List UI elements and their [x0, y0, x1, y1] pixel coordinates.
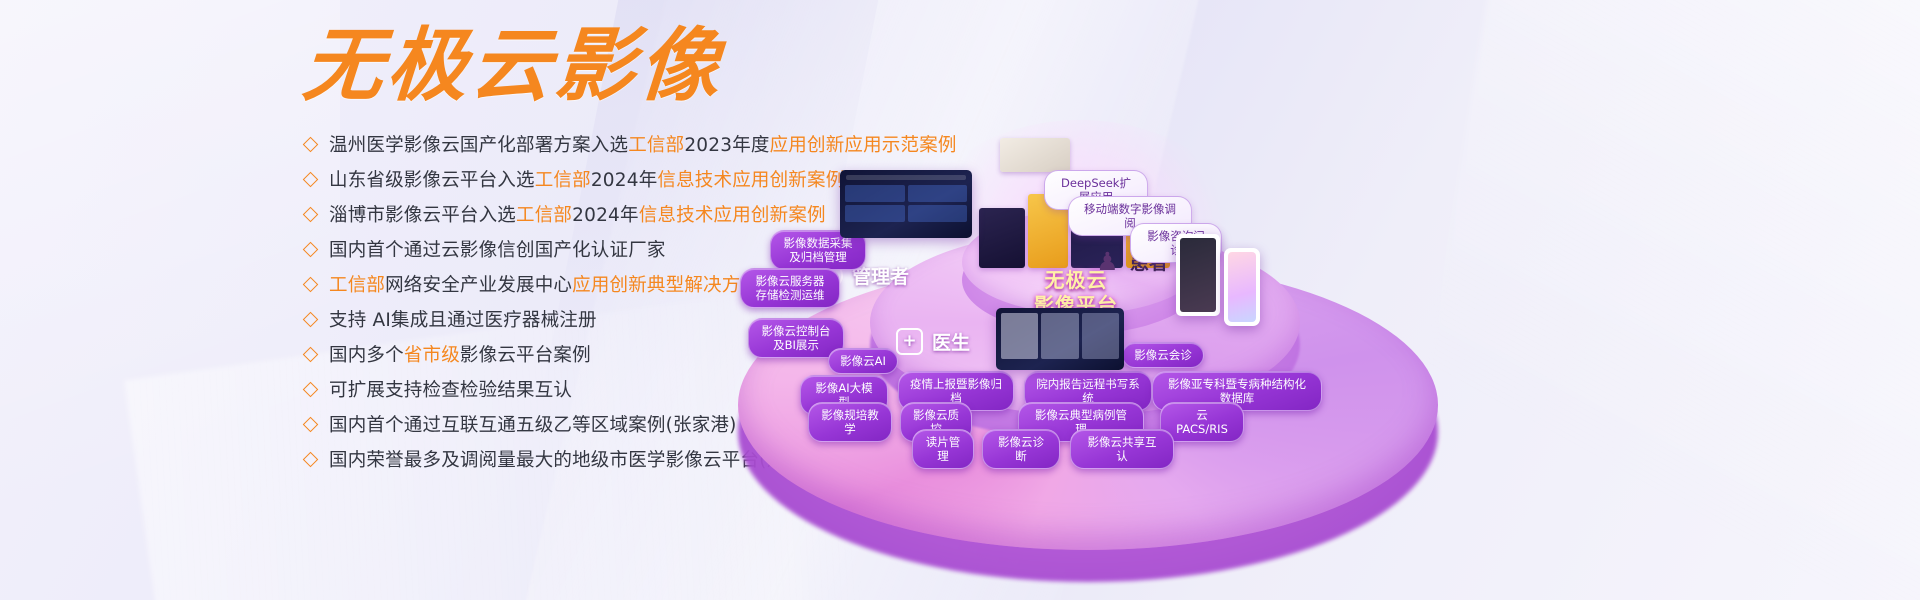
feature-pill[interactable]: 影像云服务器 存储检测运维: [740, 268, 840, 308]
role-label-doctor: 医生: [932, 328, 970, 355]
feature-highlight: 工信部: [516, 205, 572, 226]
feature-text: 支持 AI集成且通过医疗器械注册: [329, 303, 597, 338]
feature-plain: 支持 AI集成且通过医疗器械注册: [329, 310, 597, 331]
feature-plain: 国内首个通过互联互通五级乙等区域案例(张家港): [329, 415, 737, 436]
feature-text: 国内首个通过互联互通五级乙等区域案例(张家港): [329, 408, 737, 443]
feature-plain: 淄博市影像云平台入选: [329, 205, 516, 226]
feature-plain: 网络安全产业发展中心: [385, 275, 572, 296]
feature-pill[interactable]: 影像规培教学: [808, 402, 892, 442]
feature-text: 国内多个省市级影像云平台案例: [329, 338, 591, 373]
chart-tile: [908, 185, 968, 202]
diamond-bullet-icon: [303, 137, 319, 153]
chart-tile: [845, 205, 905, 222]
core-panel-dashboard: [979, 208, 1025, 268]
feature-pill[interactable]: 影像云诊断: [982, 429, 1060, 469]
feature-plain: 影像云平台案例: [460, 345, 591, 366]
chart-tile: [908, 205, 968, 222]
screenshot-dashboard: [840, 170, 972, 238]
hero-banner: 无极云影像 温州医学影像云国产化部署方案入选工信部2023年度应用创新应用示范案…: [0, 0, 1920, 600]
feature-text: 可扩展支持检查检验结果互认: [329, 373, 572, 408]
screenshot-series: [996, 308, 1124, 364]
platform-3d-diagram: 无极云 影像平台 + 管理者 + 医生 ♟ 患者 影像数据采集 及归档管理 影像…: [700, 130, 1920, 600]
phone-mockup: [1224, 248, 1260, 326]
diamond-bullet-icon: [303, 242, 319, 258]
feature-pill[interactable]: 影像云共享互认: [1070, 429, 1174, 469]
feature-plain: 2024年: [591, 170, 658, 191]
feature-plain: 2024年: [572, 205, 639, 226]
feature-highlight: 工信部: [329, 275, 385, 296]
role-marker-doctor: + 医生: [896, 328, 970, 355]
image-tile: [1001, 313, 1038, 359]
feature-text: 工信部网络安全产业发展中心应用创新典型解决方案: [329, 268, 759, 303]
diamond-bullet-icon: [303, 347, 319, 363]
background-sheen-left: [0, 0, 340, 600]
feature-pill[interactable]: 影像云会诊: [1122, 342, 1204, 368]
diamond-bullet-icon: [303, 207, 319, 223]
diamond-bullet-icon: [303, 382, 319, 398]
image-tile: [1082, 313, 1119, 359]
feature-text: 国内首个通过云影像信创国产化认证厂家: [329, 233, 666, 268]
feature-plain: 可扩展支持检查检验结果互认: [329, 380, 572, 401]
screenshot-xray: [1176, 234, 1220, 316]
feature-pill[interactable]: 影像云控制台 及BI展示: [748, 318, 844, 358]
diamond-bullet-icon: [303, 417, 319, 433]
feature-highlight: 省市级: [404, 345, 460, 366]
person-icon: ♟: [1094, 248, 1121, 275]
diamond-bullet-icon: [303, 277, 319, 293]
diamond-bullet-icon: [303, 452, 319, 468]
feature-plain: 温州医学影像云国产化部署方案入选: [329, 135, 628, 156]
feature-pill[interactable]: 影像云AI: [828, 348, 898, 374]
xray-image: [1180, 238, 1216, 312]
diamond-bullet-icon: [303, 172, 319, 188]
page-title: 无极云影像: [300, 24, 726, 108]
doctor-badge-icon: +: [896, 328, 923, 355]
feature-plain: 国内多个: [329, 345, 404, 366]
feature-highlight: 工信部: [628, 135, 684, 156]
image-tile: [1041, 313, 1078, 359]
feature-pill[interactable]: 读片管理: [912, 429, 974, 469]
feature-plain: 山东省级影像云平台入选: [329, 170, 535, 191]
feature-plain: 国内首个通过云影像信创国产化认证厂家: [329, 240, 666, 261]
screenshot-charts: [840, 180, 972, 227]
screenshot-viewer: [996, 308, 1124, 370]
phone-screen: [1228, 252, 1256, 322]
feature-highlight: 工信部: [535, 170, 591, 191]
chart-tile: [845, 185, 905, 202]
diamond-bullet-icon: [303, 312, 319, 328]
